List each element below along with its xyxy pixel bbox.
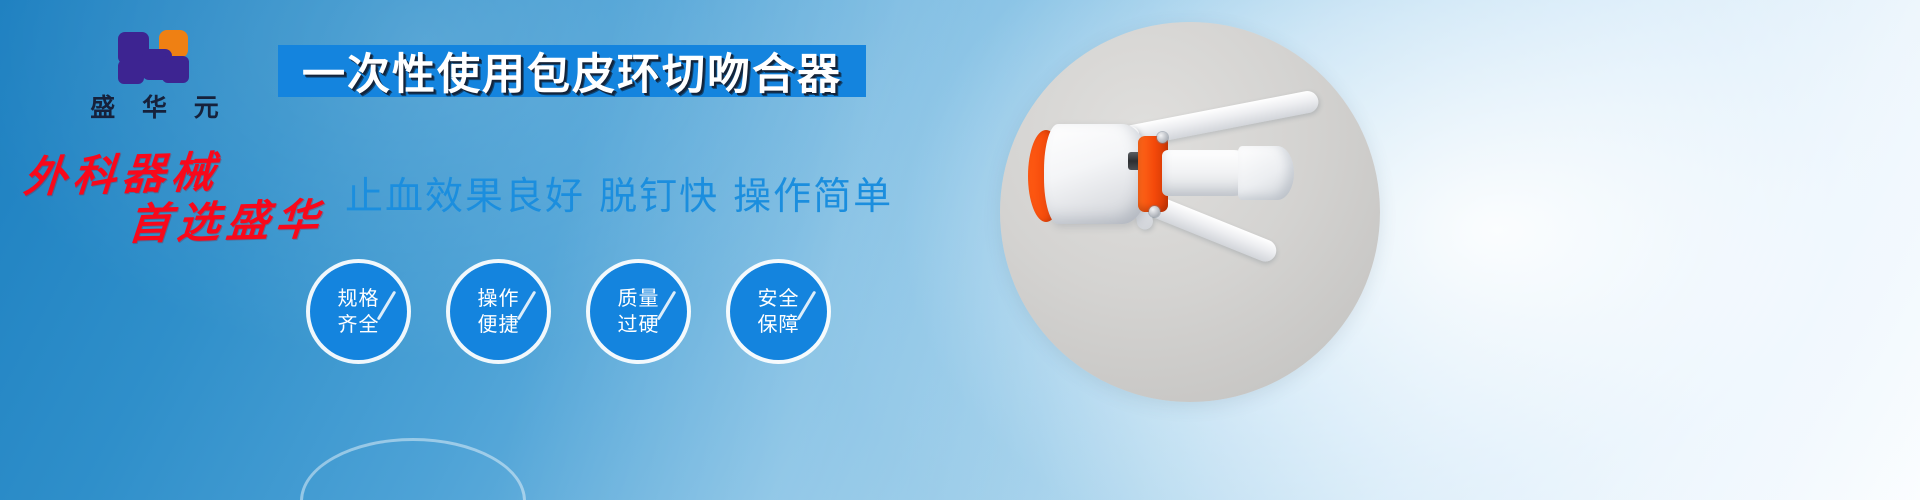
device-pivot-top <box>1157 132 1168 143</box>
bottom-arc-decor <box>300 438 526 500</box>
calligraphy-slogan: 外科器械 首选盛华 <box>18 146 330 252</box>
circumcision-stapler-device <box>1010 102 1370 332</box>
feature-badge-2[interactable]: 操作 便捷 <box>450 263 547 360</box>
slash-decor-icon <box>657 291 677 321</box>
slash-decor-icon <box>797 291 817 321</box>
brand-name: 盛 华 元 <box>62 94 247 122</box>
feature-badge-1-line-1: 规格 <box>338 286 380 312</box>
calligraphy-line-1: 外科器械 <box>22 148 222 203</box>
feature-badge-3[interactable]: 质量 过硬 <box>590 263 687 360</box>
slash-decor-icon <box>517 291 537 321</box>
device-tip <box>1238 146 1294 200</box>
device-bell-housing <box>1044 124 1148 224</box>
logo-block-d <box>118 60 144 84</box>
subtitle-text: 止血效果良好 脱钉快 操作简单 <box>345 165 893 220</box>
feature-badge-4-line-1: 安全 <box>758 286 800 312</box>
feature-badge-4[interactable]: 安全 保障 <box>730 263 827 360</box>
promo-banner: 盛 华 元 外科器械 首选盛华 一次性使用包皮环切吻合器 止血效果良好 脱钉快 … <box>0 0 1920 500</box>
device-pivot-bottom <box>1149 206 1160 217</box>
feature-badge-2-line-2: 便捷 <box>478 312 520 338</box>
calligraphy-line-2: 首选盛华 <box>126 196 326 249</box>
product-image <box>1000 22 1600 442</box>
slash-decor-icon <box>377 291 397 321</box>
feature-badge-1-line-2: 齐全 <box>338 312 380 338</box>
brand-logo-block: 盛 华 元 <box>62 26 247 122</box>
logo-block-e <box>162 56 189 83</box>
page-title: 一次性使用包皮环切吻合器 <box>302 40 842 102</box>
feature-badge-1[interactable]: 规格 齐全 <box>310 263 407 360</box>
feature-badge-list: 规格 齐全 操作 便捷 质量 过硬 安全 保障 <box>310 263 827 360</box>
feature-badge-2-line-1: 操作 <box>478 286 520 312</box>
device-shaft <box>1162 150 1250 196</box>
feature-badge-4-line-2: 保障 <box>758 312 800 338</box>
feature-badge-3-line-1: 质量 <box>618 286 660 312</box>
shenghuayuan-blocks-logo-icon <box>118 26 192 88</box>
feature-badge-3-line-2: 过硬 <box>618 312 660 338</box>
main-title-bar: 一次性使用包皮环切吻合器 <box>278 45 866 97</box>
